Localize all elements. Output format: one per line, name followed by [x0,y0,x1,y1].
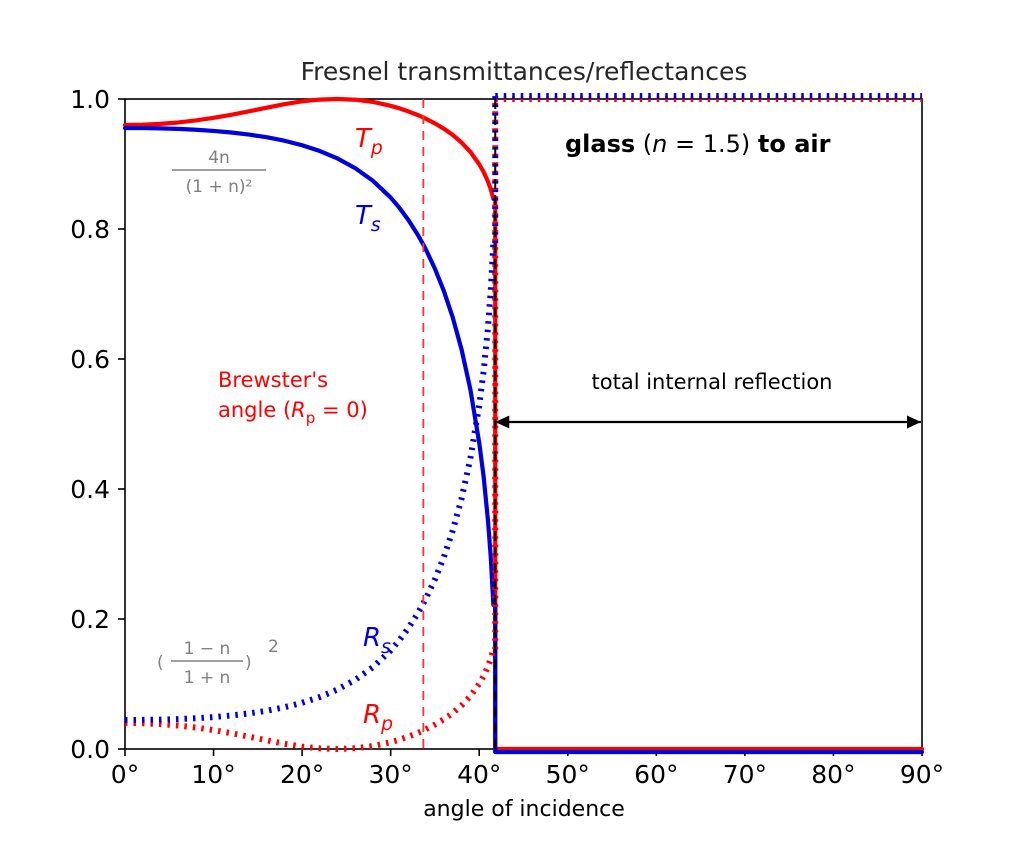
x-tick-label-4: 40° [457,760,501,789]
x-tick-label-9: 90° [900,760,944,789]
x-tick-label-1: 10° [191,760,235,789]
x-tick-label-7: 70° [723,760,767,789]
fresnel-plot-figure: Fresnel transmittances/reflectances 0.0 … [0,0,1024,853]
formula-numerator-2: 1 − n [184,639,231,659]
formula-exponent: 2 [268,637,279,657]
y-tick-label-2: 0.4 [70,475,110,504]
y-tick-label-5: 1.0 [70,85,110,114]
tir-annotation: total internal reflection [592,370,833,394]
x-tick-label-3: 30° [369,760,413,789]
formula-denominator: (1 + n)² [186,177,253,197]
formula-denominator-2: 1 + n [184,668,231,688]
y-tick-label-0: 0.0 [70,735,110,764]
x-tick-label-0: 0° [111,760,139,789]
y-tick-label-4: 0.8 [70,215,110,244]
chart-title: Fresnel transmittances/reflectances [301,57,748,86]
x-tick-label-6: 60° [634,760,678,789]
brewster-annotation-line1: Brewster's [218,368,328,392]
y-tick-label-3: 0.6 [70,345,110,374]
x-tick-label-8: 80° [811,760,855,789]
formula-numerator: 4n [208,148,230,168]
formula-paren-left: ( [157,653,164,673]
x-tick-label-2: 20° [280,760,324,789]
y-tick-label-1: 0.2 [70,605,110,634]
x-axis-label: angle of incidence [423,797,625,822]
chart-svg: Fresnel transmittances/reflectances 0.0 … [0,0,1024,853]
x-tick-label-5: 50° [546,760,590,789]
formula-paren-right: ) [245,653,252,673]
media-annotation: glass (n = 1.5) to air [565,130,831,158]
